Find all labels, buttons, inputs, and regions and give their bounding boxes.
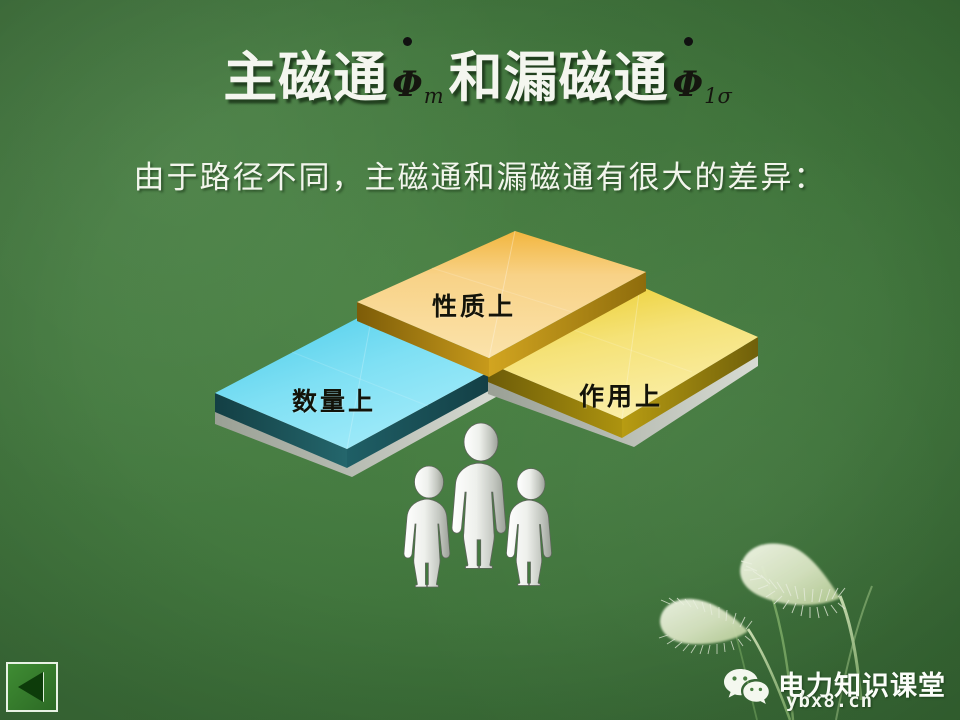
- previous-slide-button[interactable]: [6, 662, 58, 712]
- flux-symbol-main: Φm: [392, 67, 442, 102]
- phi-subscript: m: [424, 84, 444, 108]
- dot-accent-icon: [684, 37, 693, 46]
- block-top-nature: [357, 231, 646, 377]
- slide-title: 主磁通Φm和漏磁通Φ1σ: [0, 50, 960, 104]
- triangle-left-icon: [18, 672, 43, 702]
- dot-accent-icon: [403, 37, 412, 46]
- title-part-1: 主磁通: [223, 45, 388, 109]
- human-figure-left: [404, 466, 450, 587]
- human-figure-center: [452, 423, 506, 568]
- human-figures-group: [404, 423, 552, 587]
- watermark-texts: 电力知识课堂 ybx8.cn: [778, 673, 946, 700]
- title-part-2: 和漏磁通: [449, 45, 669, 109]
- flux-symbol-leakage: Φ1σ: [673, 67, 731, 102]
- slide-subtitle: 由于路径不同，主磁通和漏磁通有很大的差异：: [0, 152, 960, 197]
- block-label-quantity: 数量上: [292, 382, 376, 418]
- block-left-quantity: [215, 310, 505, 477]
- block-label-nature: 性质上: [432, 287, 516, 323]
- phi-subscript: 1σ: [704, 84, 732, 108]
- watermark-url: ybx8.cn: [786, 690, 873, 712]
- slide-canvas: 主磁通Φm和漏磁通Φ1σ 由于路径不同，主磁通和漏磁通有很大的差异：: [0, 0, 960, 720]
- block-label-effect: 作用上: [579, 377, 663, 413]
- phi-glyph: Φ: [392, 64, 423, 105]
- block-right-effect: [488, 286, 758, 447]
- phi-glyph: Φ: [673, 64, 704, 105]
- wechat-icon: [723, 666, 769, 706]
- human-figure-right: [506, 469, 551, 586]
- watermark: 电力知识课堂 ybx8.cn: [723, 666, 946, 706]
